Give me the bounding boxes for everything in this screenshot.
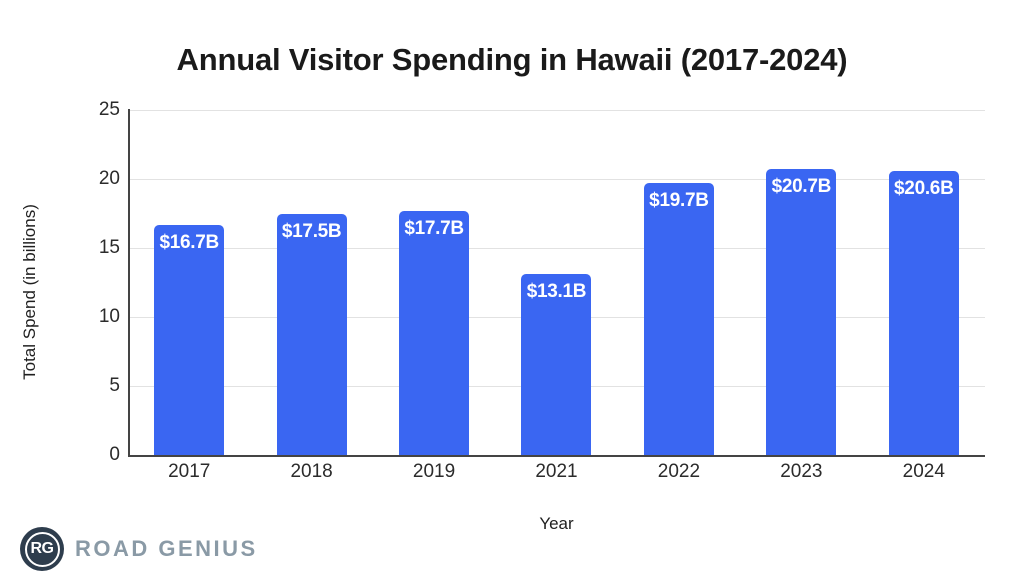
bar-value-label: $20.7B	[766, 176, 836, 198]
bar-group: $19.7B	[618, 110, 740, 455]
bar-group: $17.7B	[373, 110, 495, 455]
bar-group: $20.6B	[863, 110, 985, 455]
road-genius-monogram-icon: RG	[20, 527, 64, 571]
x-axis-ticks: 2017201820192021202220232024	[128, 461, 985, 491]
y-axis-tick-label: 15	[74, 237, 120, 259]
bar-group: $17.5B	[250, 110, 372, 455]
bar[interactable]: $19.7B	[644, 183, 714, 455]
bar[interactable]: $20.6B	[889, 171, 959, 455]
y-axis-tick-label: 25	[74, 99, 120, 121]
brand-logo: RG ROAD GENIUS	[20, 527, 258, 571]
monogram-ring: RG	[25, 532, 60, 567]
y-axis-tick-label: 10	[74, 306, 120, 328]
bar-group: $13.1B	[495, 110, 617, 455]
bar[interactable]: $13.1B	[521, 274, 591, 455]
bar-series: $16.7B$17.5B$17.7B$13.1B$19.7B$20.7B$20.…	[128, 110, 985, 455]
monogram-label: RG	[31, 541, 54, 557]
x-axis-tick-label: 2022	[618, 461, 740, 483]
x-axis-line	[128, 455, 985, 457]
x-axis-tick-label: 2018	[250, 461, 372, 483]
bar-group: $20.7B	[740, 110, 862, 455]
bar-value-label: $17.7B	[399, 218, 469, 240]
y-axis-tick-label: 5	[74, 375, 120, 397]
bar-value-label: $17.5B	[277, 221, 347, 243]
bar[interactable]: $17.5B	[277, 214, 347, 456]
bar[interactable]: $20.7B	[766, 169, 836, 455]
brand-wordmark: ROAD GENIUS	[75, 536, 258, 562]
bar-value-label: $16.7B	[154, 232, 224, 254]
y-axis-tick-label: 20	[74, 168, 120, 190]
bar[interactable]: $17.7B	[399, 211, 469, 455]
y-axis-title: Total Spend (in billions)	[20, 162, 40, 422]
y-axis-tick-label: 0	[74, 444, 120, 466]
bar-value-label: $20.6B	[889, 178, 959, 200]
bar-value-label: $13.1B	[521, 281, 591, 303]
bar-group: $16.7B	[128, 110, 250, 455]
bar[interactable]: $16.7B	[154, 225, 224, 455]
y-axis-ticks: 0510152025	[68, 0, 120, 582]
bar-value-label: $19.7B	[644, 190, 714, 212]
x-axis-tick-label: 2017	[128, 461, 250, 483]
x-axis-tick-label: 2024	[863, 461, 985, 483]
chart-title: Annual Visitor Spending in Hawaii (2017-…	[0, 42, 1024, 78]
x-axis-tick-label: 2023	[740, 461, 862, 483]
x-axis-tick-label: 2019	[373, 461, 495, 483]
x-axis-tick-label: 2021	[495, 461, 617, 483]
